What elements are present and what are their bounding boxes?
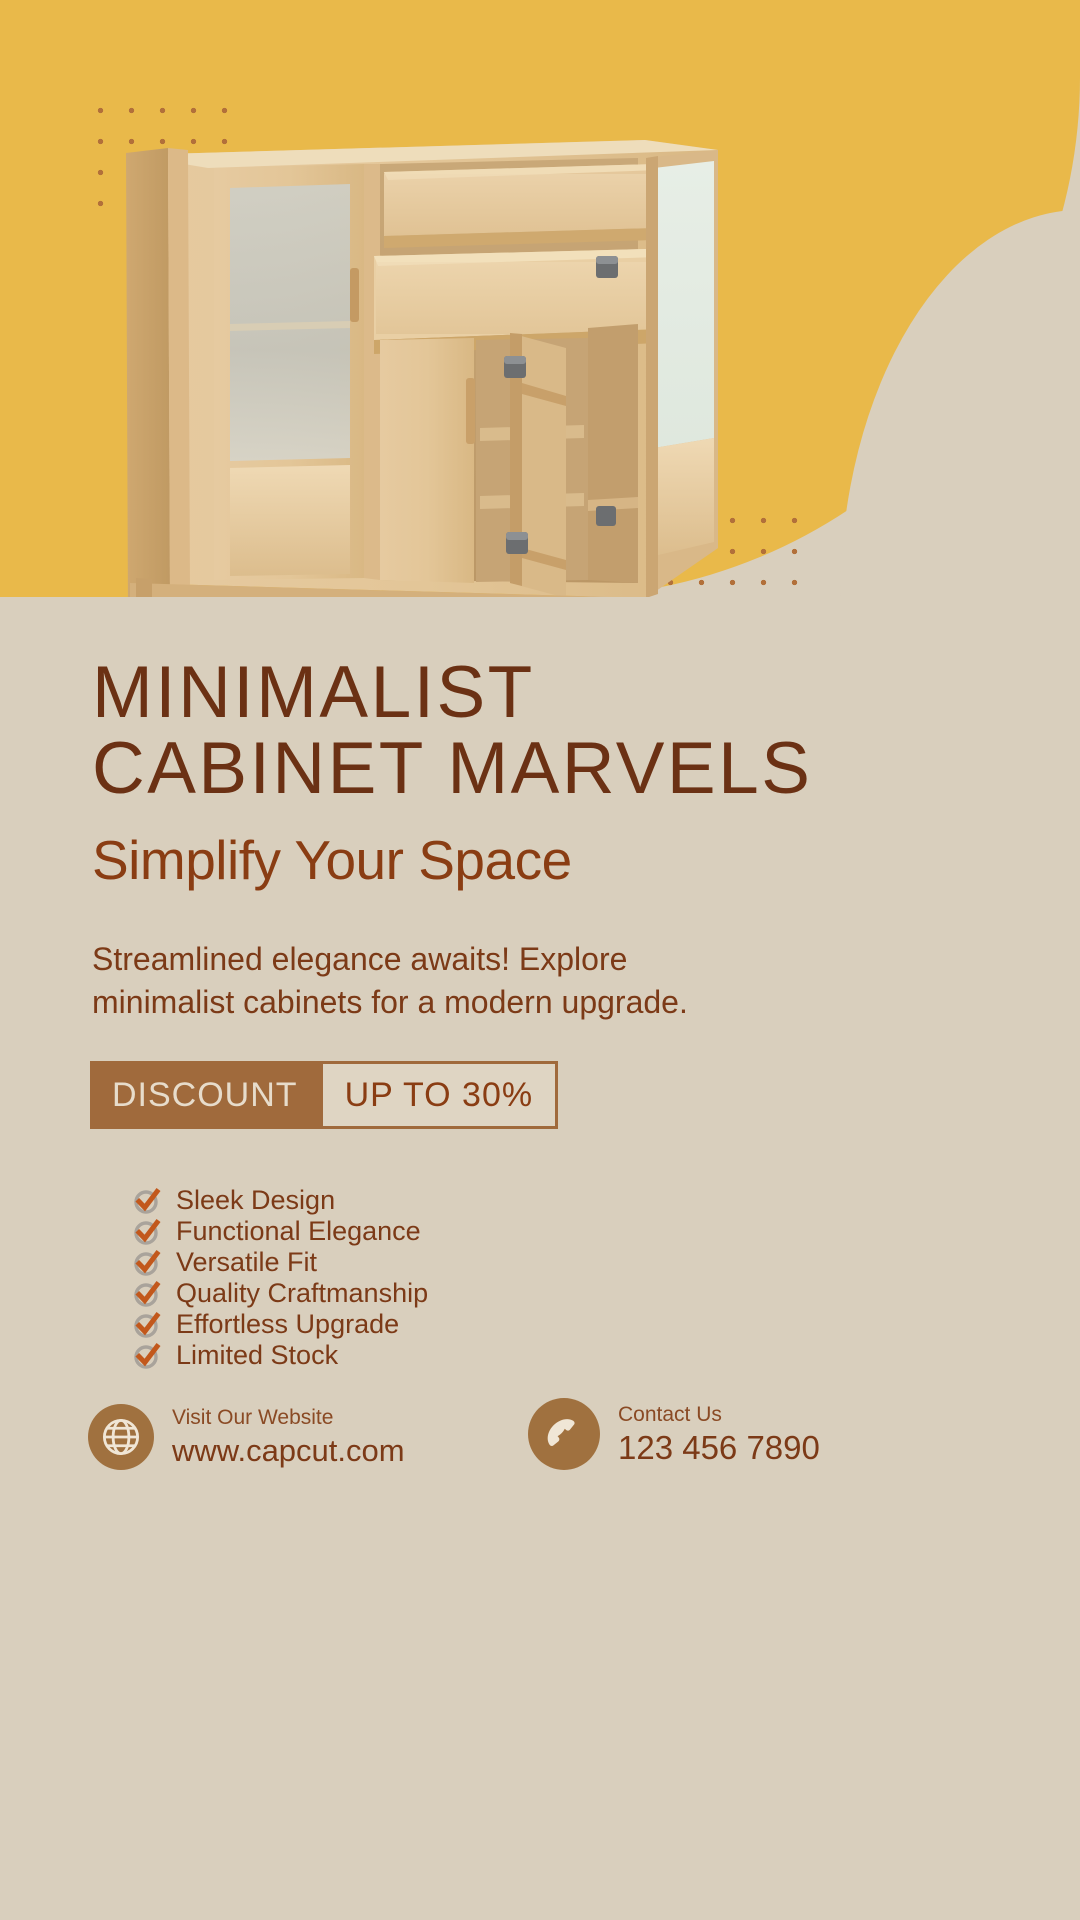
headline-line-1: MINIMALIST [92,652,535,733]
check-circle-icon [132,1279,162,1309]
body-line-2: minimalist cabinets for a modern upgrade… [92,981,732,1024]
headline-line-2: CABINET MARVELS [92,731,812,807]
footer-website-caption: Visit Our Website [172,1405,405,1430]
footer-website[interactable]: Visit Our Website www.capcut.com [88,1404,405,1470]
hero-section [0,0,1080,597]
check-circle-icon [132,1341,162,1371]
discount-value: UP TO 30% [320,1061,559,1129]
content-section: MINIMALIST CABINET MARVELS Simplify Your… [0,597,1080,1920]
feature-list: Sleek DesignFunctional EleganceVersatile… [132,1185,692,1371]
feature-label: Versatile Fit [176,1247,317,1278]
subheadline: Simplify Your Space [92,830,572,890]
feature-label: Functional Elegance [176,1216,421,1247]
feature-item: Effortless Upgrade [132,1309,692,1340]
feature-label: Effortless Upgrade [176,1309,399,1340]
footer-phone-number[interactable]: 123 456 7890 [618,1429,820,1467]
footer-phone-caption: Contact Us [618,1402,820,1427]
feature-item: Functional Elegance [132,1216,692,1247]
body-paragraph: Streamlined elegance awaits! Explore min… [92,938,732,1024]
promo-poster: MINIMALIST CABINET MARVELS Simplify Your… [0,0,1080,1920]
phone-icon [528,1398,600,1470]
feature-label: Quality Craftmanship [176,1278,428,1309]
check-circle-icon [132,1186,162,1216]
discount-badge[interactable]: DISCOUNT UP TO 30% [90,1061,558,1129]
product-image [118,128,773,597]
feature-item: Limited Stock [132,1340,692,1371]
check-circle-icon [132,1248,162,1278]
footer-phone-text: Contact Us 123 456 7890 [618,1402,820,1467]
globe-icon [88,1404,154,1470]
footer-website-text: Visit Our Website www.capcut.com [172,1405,405,1470]
feature-label: Limited Stock [176,1340,338,1371]
feature-item: Quality Craftmanship [132,1278,692,1309]
feature-item: Versatile Fit [132,1247,692,1278]
discount-label: DISCOUNT [90,1061,320,1129]
feature-label: Sleek Design [176,1185,335,1216]
footer: Visit Our Website www.capcut.com Contact… [0,1392,1080,1522]
body-line-1: Streamlined elegance awaits! Explore [92,938,732,981]
footer-phone[interactable]: Contact Us 123 456 7890 [528,1398,820,1470]
check-circle-icon [132,1310,162,1340]
check-circle-icon [132,1217,162,1247]
footer-website-url[interactable]: www.capcut.com [172,1432,405,1470]
feature-item: Sleek Design [132,1185,692,1216]
page-title: MINIMALIST CABINET MARVELS [92,655,812,807]
